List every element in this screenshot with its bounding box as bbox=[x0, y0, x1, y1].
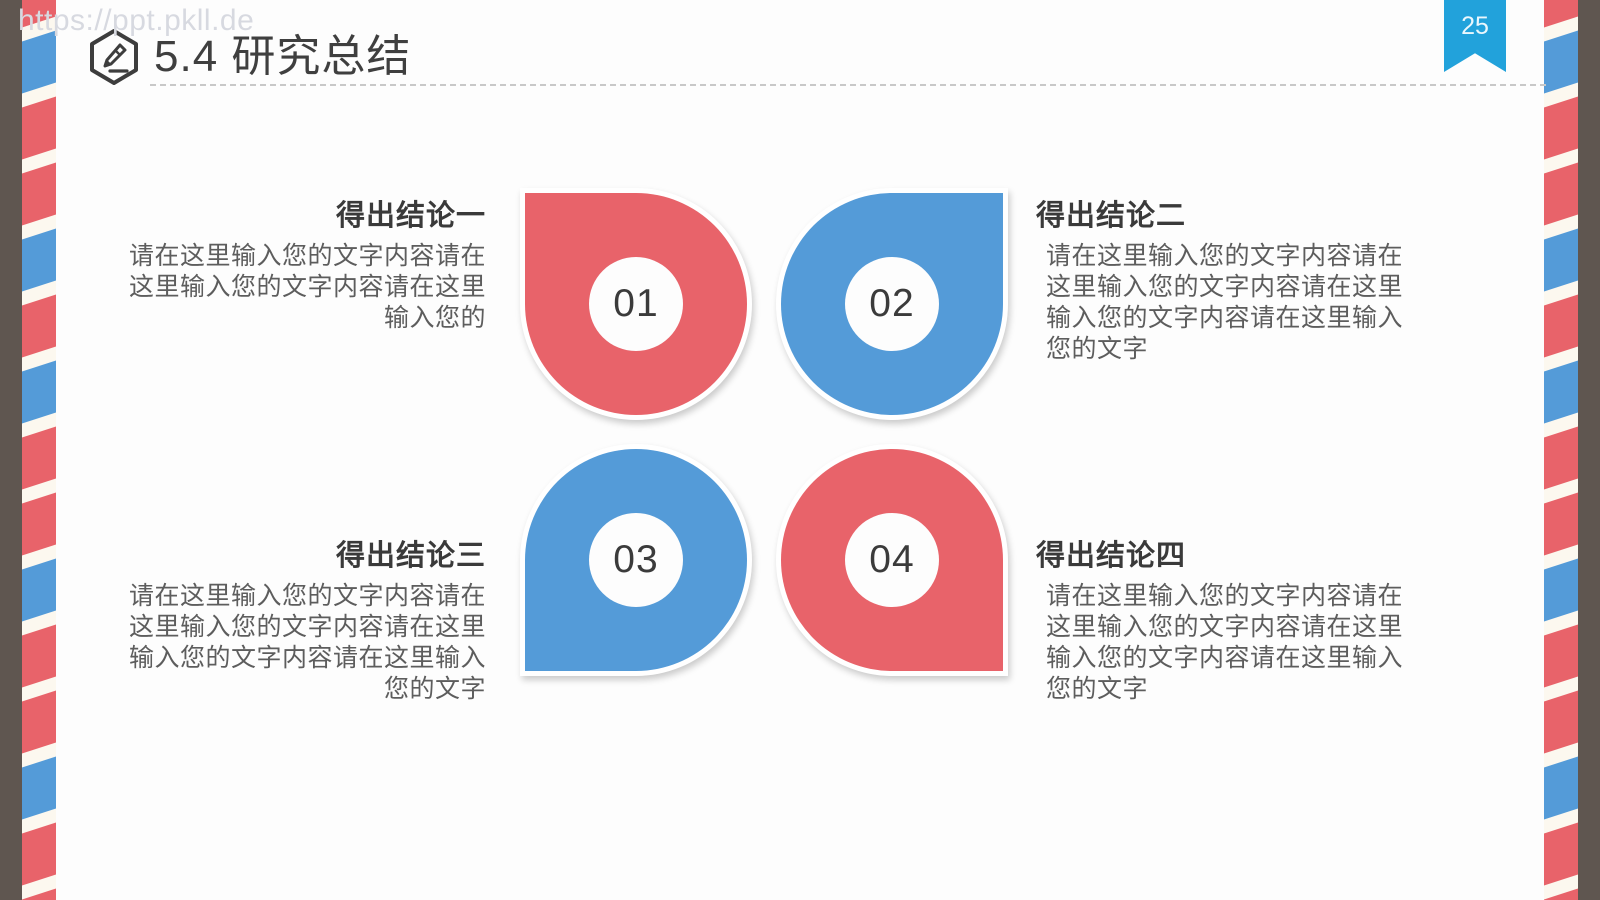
petal-04-number: 04 bbox=[845, 513, 939, 607]
airmail-dash bbox=[22, 689, 56, 756]
presentation-slide: https://ppt.pkll.de 5.4 研究总结 25 01 02 bbox=[0, 0, 1600, 900]
page-title: 5.4 研究总结 bbox=[154, 20, 411, 84]
conclusion-body-3: 请在这里输入您的文字内容请在这里输入您的文字内容请在这里输入您的文字内容请在这里… bbox=[100, 581, 486, 705]
conclusion-body-1: 请在这里输入您的文字内容请在这里输入您的文字内容请在这里输入您的 bbox=[100, 241, 486, 334]
airmail-dash bbox=[1544, 755, 1578, 822]
airmail-dash bbox=[22, 623, 56, 690]
petal-diagram: 01 02 03 04 bbox=[520, 188, 1008, 676]
petal-01-number: 01 bbox=[589, 257, 683, 351]
airmail-dash bbox=[22, 755, 56, 822]
airmail-dash bbox=[22, 821, 56, 888]
airmail-dash bbox=[1544, 425, 1578, 492]
conclusion-body-2: 请在这里输入您的文字内容请在这里输入您的文字内容请在这里输入您的文字内容请在这里… bbox=[1036, 241, 1404, 365]
airmail-dash bbox=[1544, 623, 1578, 690]
petal-04[interactable]: 04 bbox=[776, 444, 1008, 676]
conclusion-title-3: 得出结论三 bbox=[100, 532, 486, 574]
airmail-dash bbox=[22, 161, 56, 228]
airmail-dash bbox=[22, 887, 56, 900]
conclusion-block-3: 得出结论三 请在这里输入您的文字内容请在这里输入您的文字内容请在这里输入您的文字… bbox=[100, 532, 486, 705]
conclusion-block-2: 得出结论二 请在这里输入您的文字内容请在这里输入您的文字内容请在这里输入您的文字… bbox=[1036, 192, 1404, 365]
airmail-dash bbox=[22, 557, 56, 624]
airmail-dash bbox=[1544, 359, 1578, 426]
slide-header: 5.4 研究总结 bbox=[32, 14, 1570, 88]
airmail-dash bbox=[22, 293, 56, 360]
title-divider bbox=[150, 84, 1546, 86]
airmail-dash bbox=[1544, 821, 1578, 888]
conclusion-title-4: 得出结论四 bbox=[1036, 532, 1404, 574]
petal-04-fill: 04 bbox=[781, 449, 1003, 671]
airmail-dash bbox=[1544, 227, 1578, 294]
petal-01[interactable]: 01 bbox=[520, 188, 752, 420]
petal-01-fill: 01 bbox=[525, 193, 747, 415]
petal-02-fill: 02 bbox=[781, 193, 1003, 415]
airmail-border-left bbox=[0, 0, 56, 900]
airmail-dash bbox=[1544, 95, 1578, 162]
airmail-dash bbox=[1544, 161, 1578, 228]
border-outer-bar-left bbox=[0, 0, 22, 900]
petal-02[interactable]: 02 bbox=[776, 188, 1008, 420]
airmail-dash bbox=[1544, 293, 1578, 360]
airmail-dash bbox=[22, 227, 56, 294]
petal-03-number: 03 bbox=[589, 513, 683, 607]
conclusion-block-1: 得出结论一 请在这里输入您的文字内容请在这里输入您的文字内容请在这里输入您的 bbox=[100, 192, 486, 334]
conclusion-body-4: 请在这里输入您的文字内容请在这里输入您的文字内容请在这里输入您的文字内容请在这里… bbox=[1036, 581, 1404, 705]
airmail-stripes-right bbox=[1544, 0, 1578, 900]
conclusion-title-1: 得出结论一 bbox=[100, 192, 486, 234]
airmail-dash bbox=[22, 491, 56, 558]
airmail-dash bbox=[1544, 557, 1578, 624]
airmail-dash bbox=[1544, 491, 1578, 558]
conclusion-title-2: 得出结论二 bbox=[1036, 192, 1404, 234]
conclusion-block-4: 得出结论四 请在这里输入您的文字内容请在这里输入您的文字内容请在这里输入您的文字… bbox=[1036, 532, 1404, 705]
border-outer-bar-right bbox=[1578, 0, 1600, 900]
airmail-stripes-left bbox=[22, 0, 56, 900]
airmail-border-right bbox=[1544, 0, 1600, 900]
petal-03-fill: 03 bbox=[525, 449, 747, 671]
airmail-dash bbox=[22, 95, 56, 162]
page-number: 25 bbox=[1444, 12, 1506, 41]
petal-03[interactable]: 03 bbox=[520, 444, 752, 676]
airmail-dash bbox=[1544, 887, 1578, 900]
petal-02-number: 02 bbox=[845, 257, 939, 351]
airmail-dash bbox=[22, 425, 56, 492]
hexagon-pencil-icon bbox=[86, 28, 142, 86]
airmail-dash bbox=[1544, 689, 1578, 756]
airmail-dash bbox=[22, 359, 56, 426]
